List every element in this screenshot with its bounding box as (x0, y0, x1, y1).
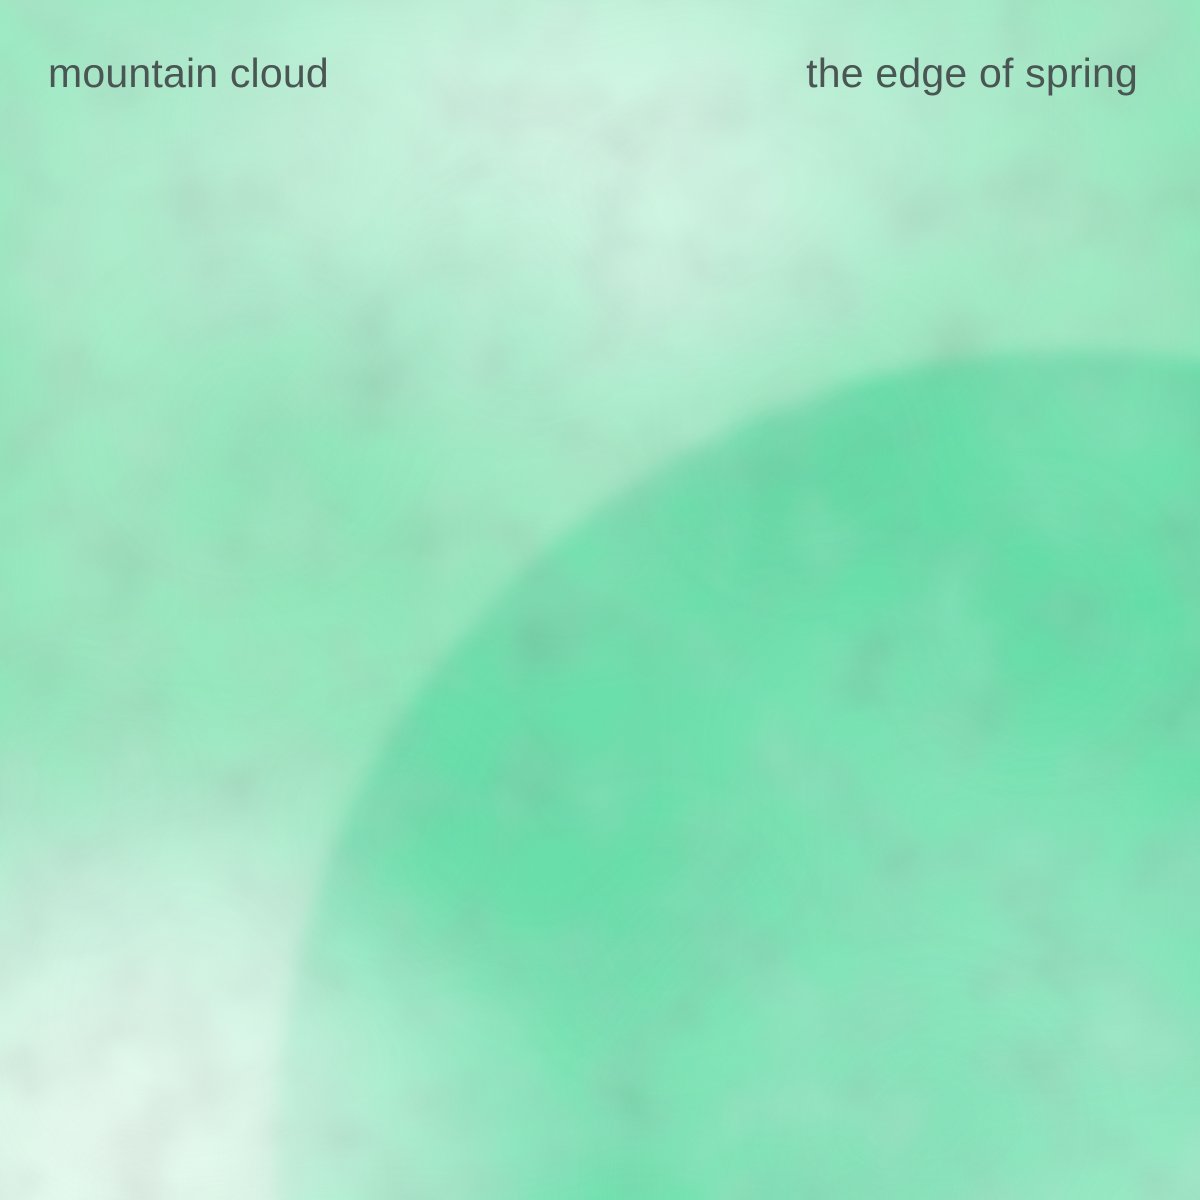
album-cover: mountain cloud the edge of spring (0, 0, 1200, 1200)
artist-name: mountain cloud (48, 53, 329, 94)
album-title: the edge of spring (806, 53, 1138, 94)
cover-title-bar: mountain cloud the edge of spring (0, 0, 1200, 130)
